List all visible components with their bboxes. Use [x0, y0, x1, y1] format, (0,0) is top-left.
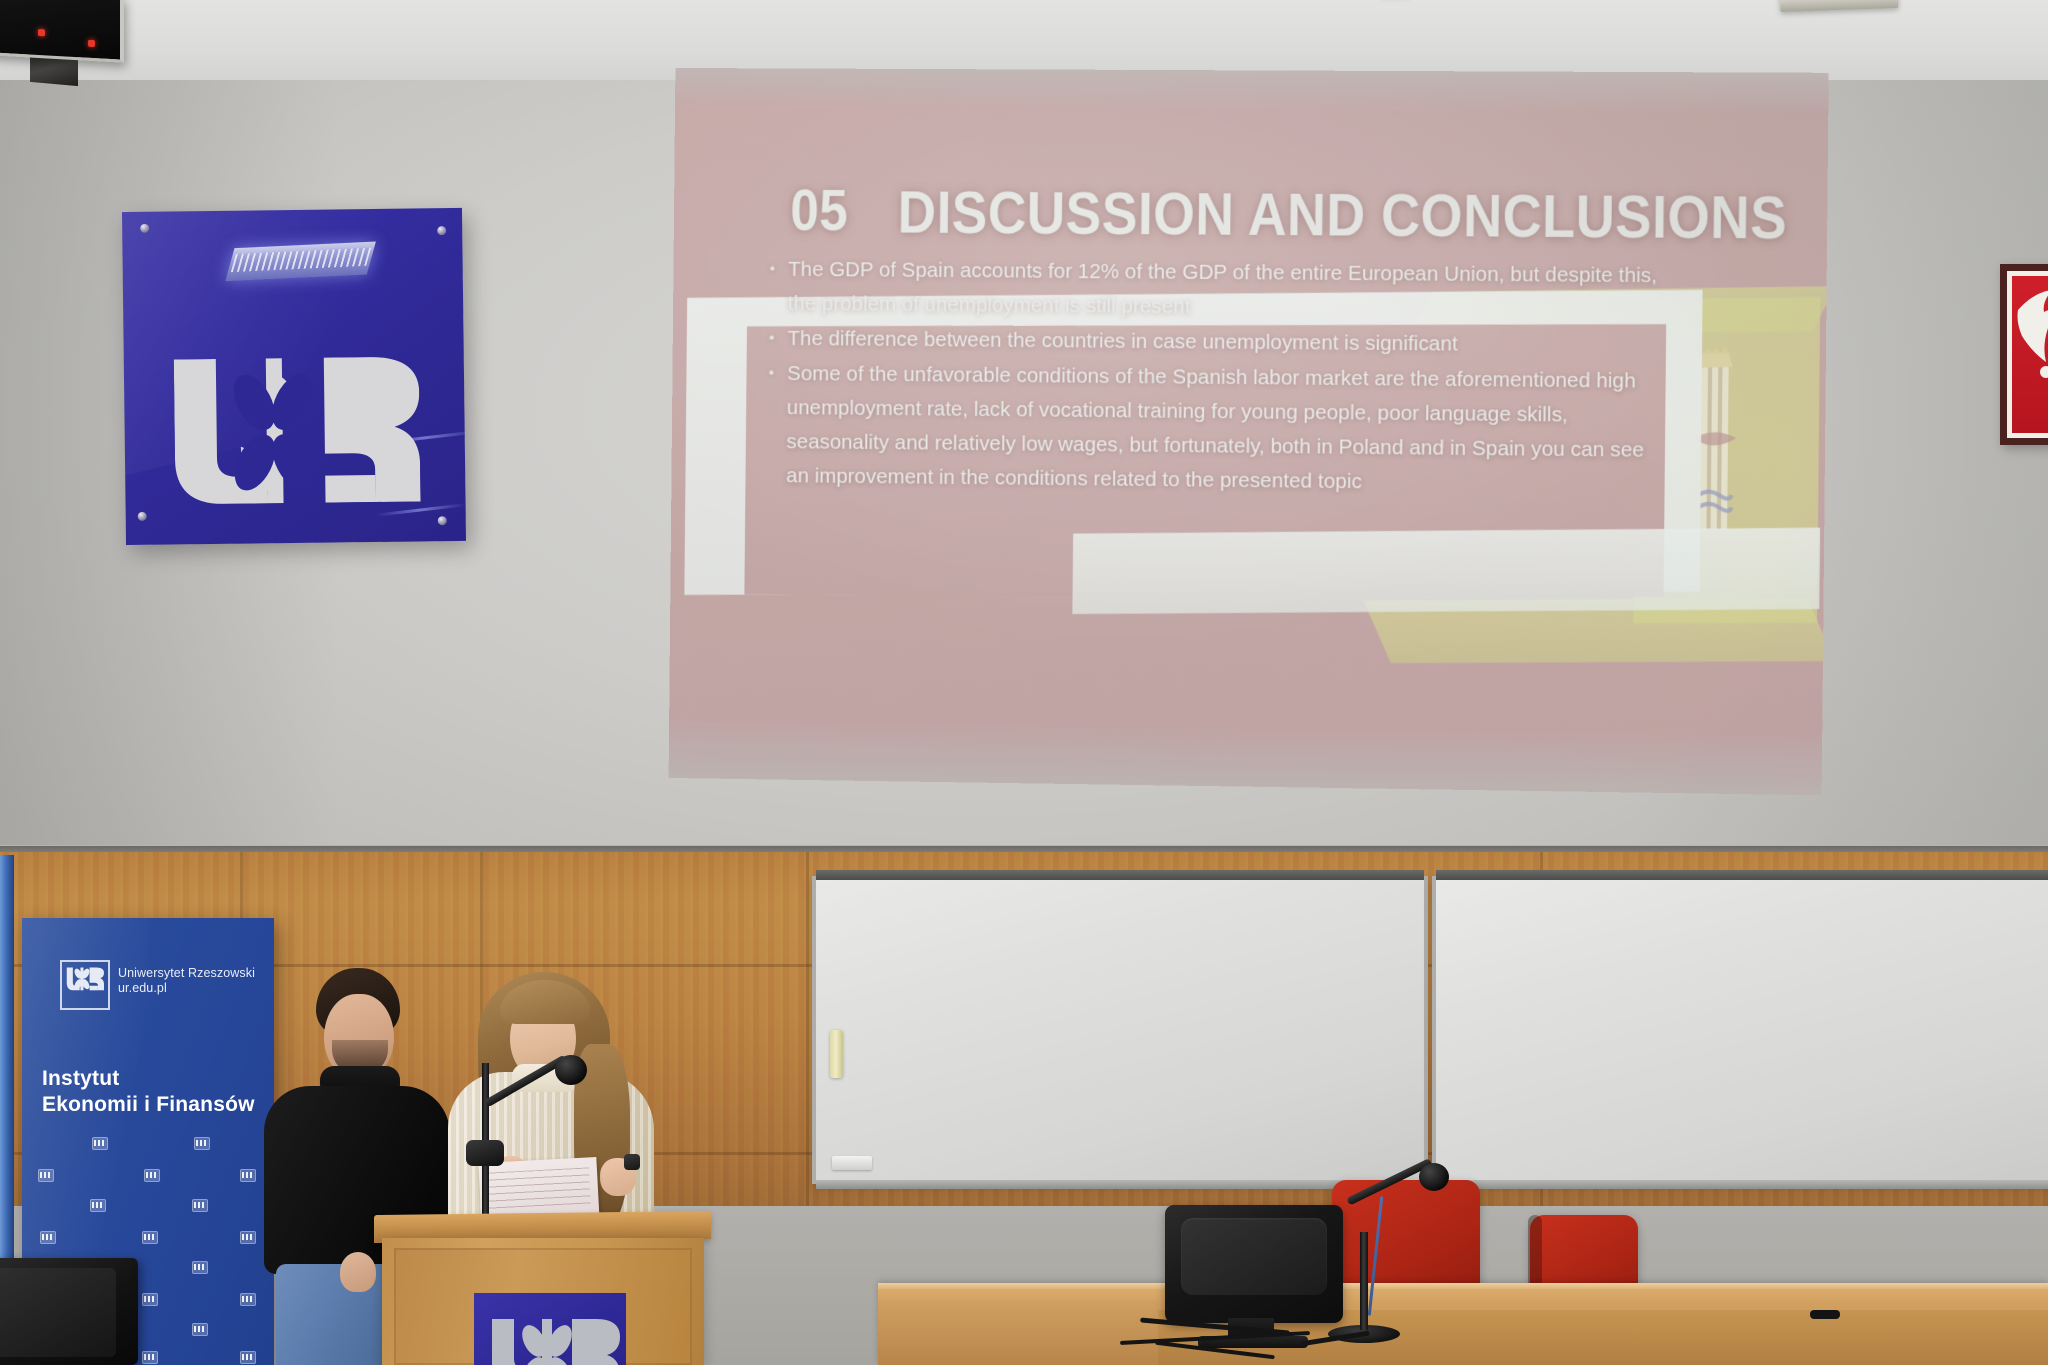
plaque-screw-tr	[437, 226, 446, 235]
side-monitor-panel	[0, 1268, 116, 1357]
bullet-marker: •	[767, 357, 774, 493]
front-desk-left-section	[878, 1300, 1158, 1365]
tv-power-led-1	[38, 29, 45, 36]
tv-power-led-2	[88, 40, 95, 47]
whiteboard-right	[1432, 876, 2048, 1184]
slide-bullet-list: • The GDP of Spain accounts for 12% of t…	[767, 253, 1674, 504]
lecture-hall-photo: 05 DISCUSSION AND CONCLUSIONS • The GDP …	[0, 0, 2048, 1365]
lectern-microphone-head[interactable]	[555, 1055, 587, 1085]
white-eagle-icon	[2012, 276, 2048, 436]
wall-display[interactable]	[0, 0, 124, 63]
desk-monitor[interactable]	[1165, 1205, 1343, 1323]
ur-monogram-icon	[174, 356, 421, 504]
plaque-screw-br	[438, 516, 447, 525]
projection-screen: 05 DISCUSSION AND CONCLUSIONS • The GDP …	[669, 68, 1829, 795]
bullet-text: The GDP of Spain accounts for 12% of the…	[788, 253, 1674, 328]
emblem-red-field	[2012, 276, 2048, 433]
presenter-right-watch	[624, 1154, 640, 1170]
bullet-marker: •	[769, 253, 775, 321]
lectern	[382, 1238, 704, 1365]
slide-title-row: 05 DISCUSSION AND CONCLUSIONS	[674, 176, 1807, 253]
monitor-back-panel	[1181, 1218, 1327, 1295]
whiteboard-marker	[830, 1030, 843, 1078]
bullet-text: Some of the unfavorable conditions of th…	[786, 357, 1673, 503]
whiteboard-rail	[816, 870, 1424, 880]
banner-university-name: Uniwersytet Rzeszowski	[118, 966, 255, 981]
banner-institute-block: Instytut Ekonomii i Finansów	[42, 1066, 257, 1118]
plaque-light-streak-2	[376, 503, 466, 516]
ur-monogram-icon-small	[66, 966, 104, 993]
banner-website: ur.edu.pl	[118, 981, 255, 996]
desk-microphone-head[interactable]	[1419, 1163, 1449, 1191]
ur-logo-plaque	[122, 208, 466, 545]
banner-institute-line2: Ekonomii i Finansów	[42, 1092, 257, 1118]
whiteboard-rail	[1436, 870, 2048, 880]
bullet-marker: •	[769, 322, 775, 356]
plaque-screw-tl	[140, 224, 149, 233]
whiteboard-left	[812, 876, 1428, 1184]
list-item: • Some of the unfavorable conditions of …	[767, 357, 1673, 503]
polish-coat-of-arms	[2000, 264, 2048, 445]
side-monitor[interactable]	[0, 1258, 138, 1365]
desk-item-remote[interactable]	[1810, 1310, 1840, 1319]
slide-title: DISCUSSION AND CONCLUSIONS	[897, 177, 1787, 252]
presenter-left-hand	[340, 1252, 376, 1292]
projection-top-fade	[675, 68, 1829, 114]
lectern-microphone-joint	[466, 1140, 504, 1166]
banner-institute-line1: Instytut	[42, 1066, 257, 1092]
banner-university-block: Uniwersytet Rzeszowski ur.edu.pl	[118, 966, 255, 996]
plaque-screw-bl	[138, 512, 147, 521]
lectern-ur-logo	[474, 1293, 626, 1365]
slide-white-card-2	[1072, 528, 1820, 614]
front-desk-edge	[878, 1283, 2048, 1289]
ur-monogram-icon-lectern	[474, 1293, 626, 1365]
slide-number: 05	[790, 177, 849, 247]
paper-text-lines	[487, 1167, 591, 1212]
banner-ur-logo	[60, 960, 110, 1010]
whiteboard-tray	[1436, 1180, 2048, 1189]
whiteboard-eraser[interactable]	[832, 1156, 872, 1170]
desk-microphone-pole	[1360, 1232, 1368, 1330]
list-item: • The GDP of Spain accounts for 12% of t…	[769, 253, 1674, 328]
